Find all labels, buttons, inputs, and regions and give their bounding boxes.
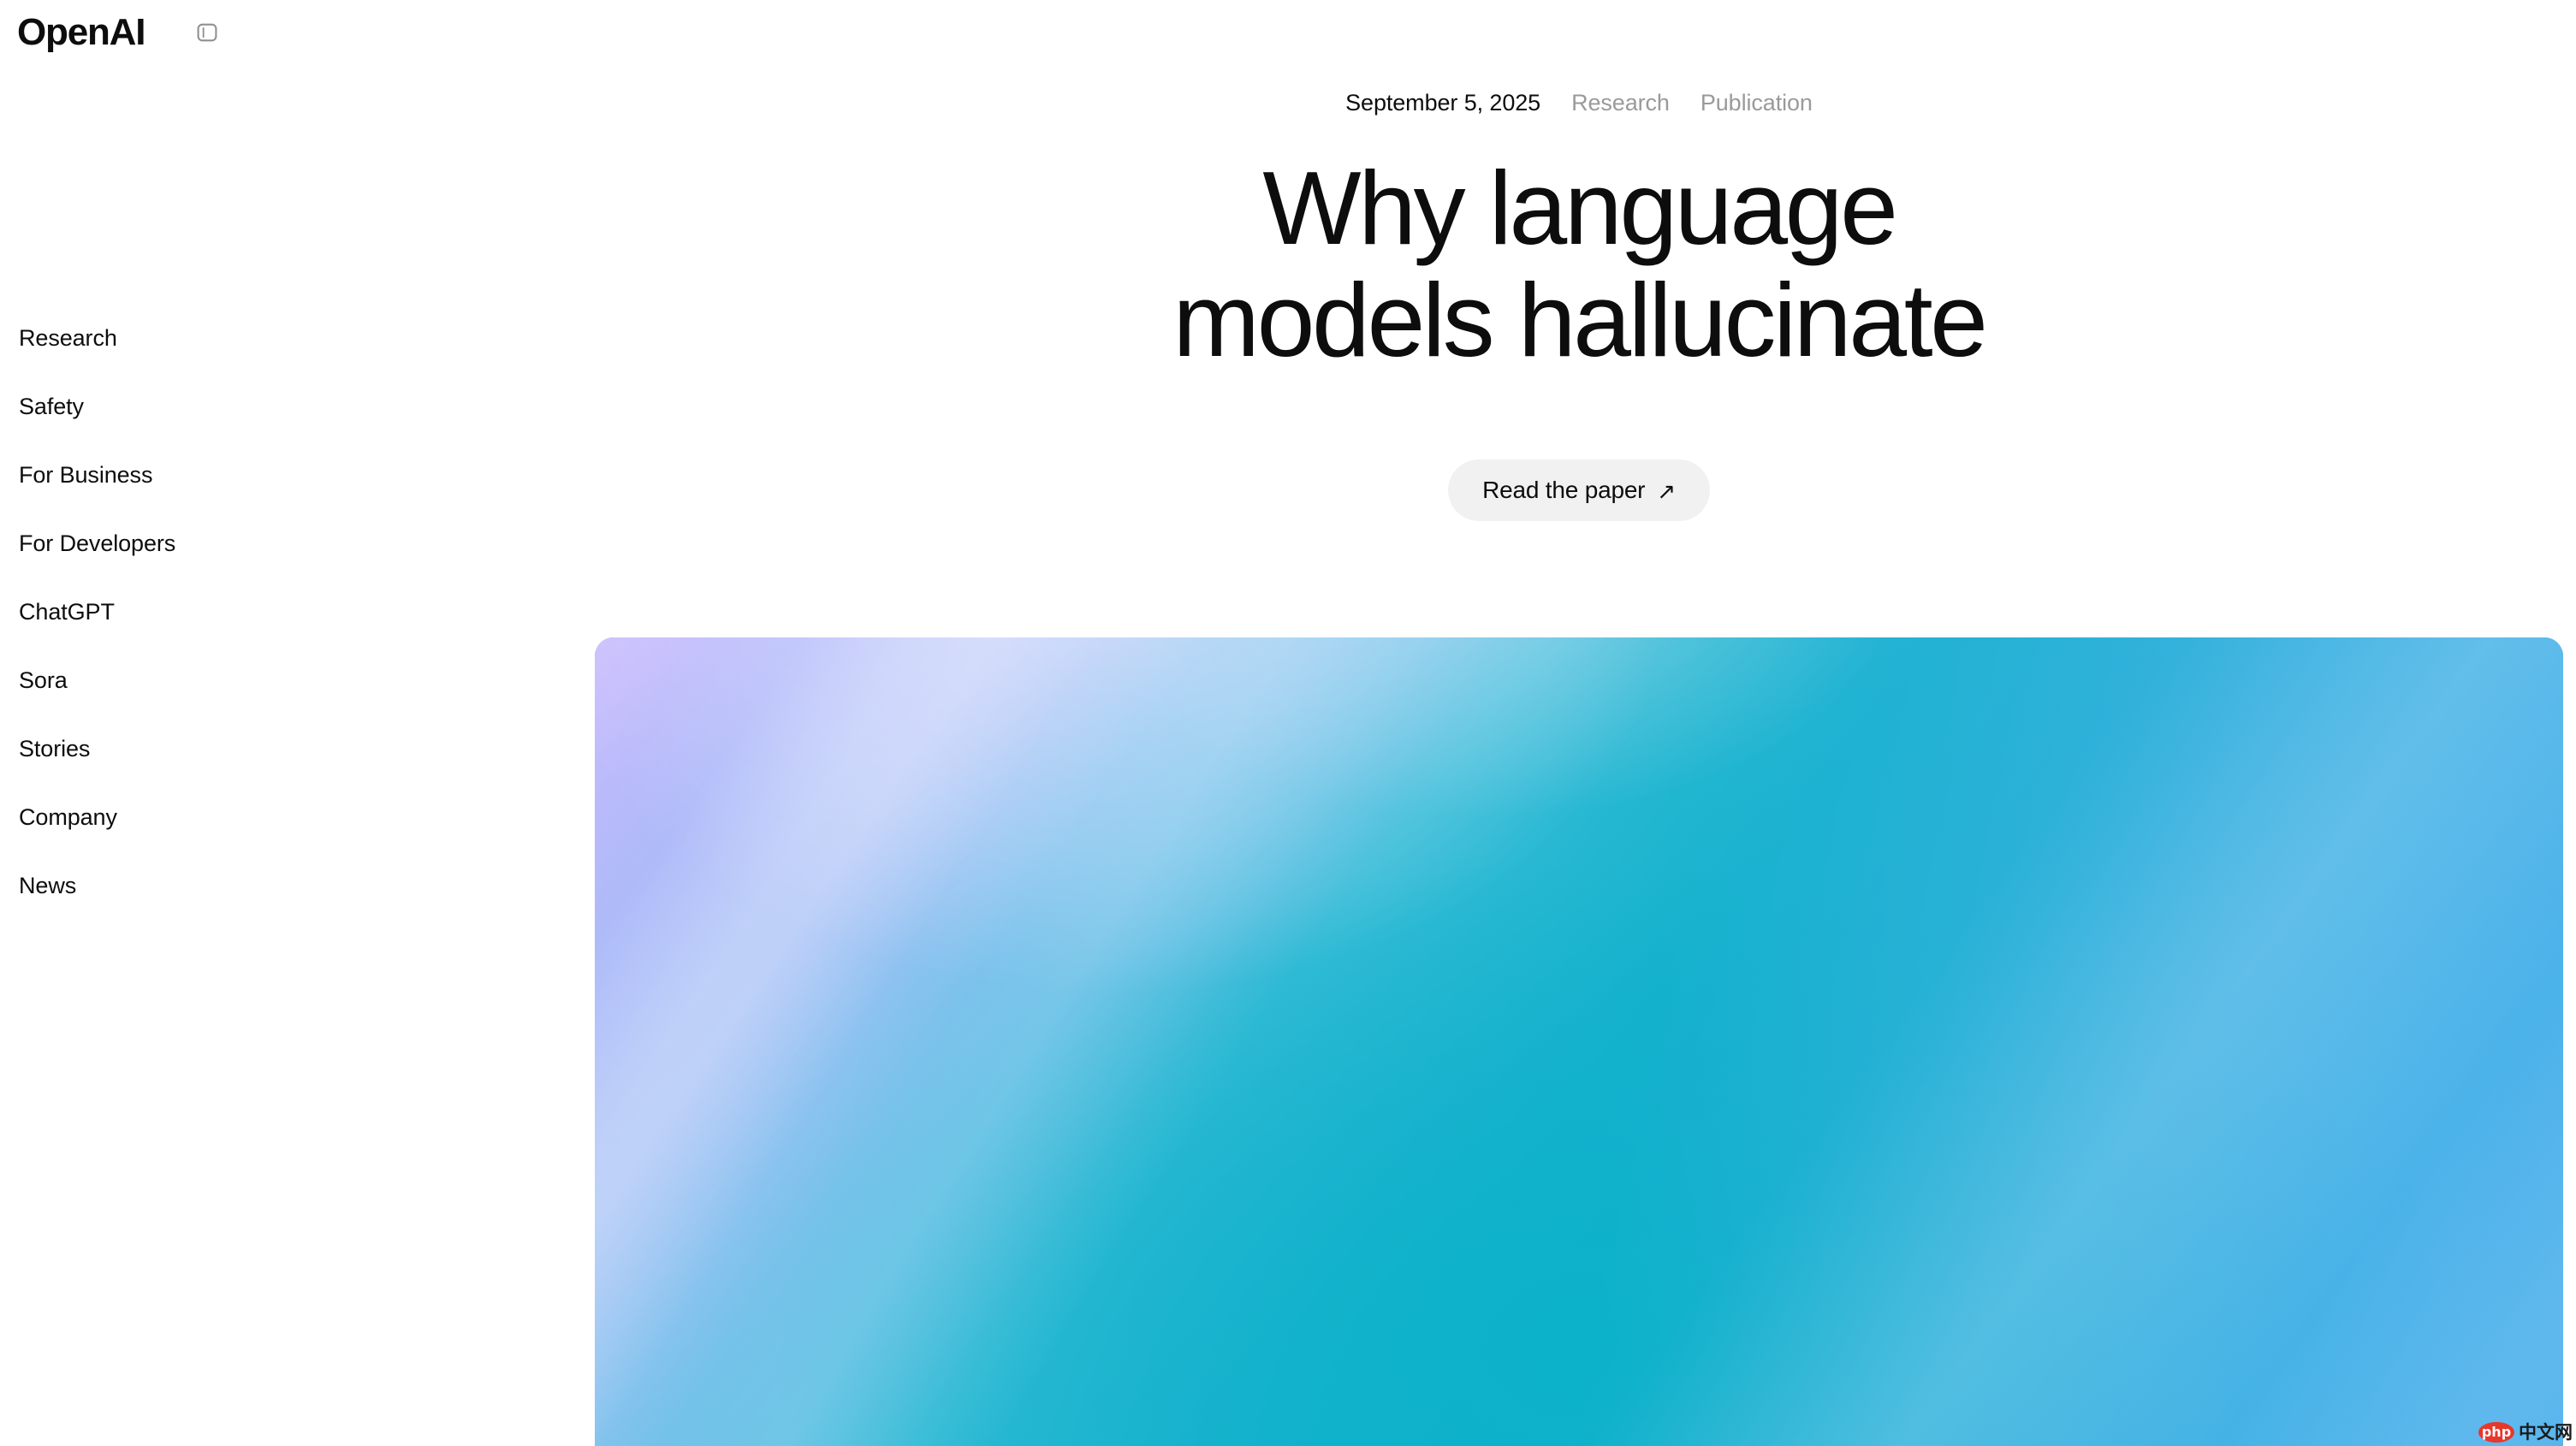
page-title-line-1: Why language bbox=[595, 152, 2563, 264]
tag-publication[interactable]: Publication bbox=[1701, 92, 1813, 115]
sidebar-item-stories[interactable]: Stories bbox=[0, 714, 565, 783]
hero-gradient-streak-d bbox=[595, 637, 2563, 1446]
external-link-arrow-icon: ↗ bbox=[1657, 480, 1676, 502]
publish-date: September 5, 2025 bbox=[1345, 92, 1540, 115]
page-root: OpenAI Research Safety For Business For … bbox=[0, 0, 2576, 1446]
page-title: Why language models hallucinate bbox=[595, 152, 2563, 376]
sidebar-item-safety[interactable]: Safety bbox=[0, 372, 565, 441]
sidebar-item-news[interactable]: News bbox=[0, 851, 565, 920]
watermark-text: 中文网 bbox=[2519, 1424, 2573, 1442]
header: OpenAI bbox=[0, 0, 599, 65]
sidebar-item-company[interactable]: Company bbox=[0, 783, 565, 851]
watermark: php 中文网 bbox=[2478, 1422, 2573, 1443]
page-title-line-2: models hallucinate bbox=[595, 264, 2563, 376]
hero-gradient-image bbox=[595, 637, 2563, 1446]
article-meta: September 5, 2025 Research Publication bbox=[595, 92, 2563, 115]
sidebar-toggle-button[interactable] bbox=[193, 18, 222, 47]
tag-research[interactable]: Research bbox=[1571, 92, 1670, 115]
cta-container: Read the paper ↗ bbox=[595, 459, 2563, 521]
read-the-paper-button[interactable]: Read the paper ↗ bbox=[1448, 459, 1710, 521]
watermark-badge: php bbox=[2478, 1422, 2514, 1443]
sidebar-item-chatgpt[interactable]: ChatGPT bbox=[0, 578, 565, 646]
sidebar-item-for-developers[interactable]: For Developers bbox=[0, 509, 565, 578]
sidebar-item-for-business[interactable]: For Business bbox=[0, 441, 565, 509]
sidebar-item-research[interactable]: Research bbox=[0, 304, 565, 372]
read-the-paper-label: Read the paper bbox=[1482, 477, 1645, 504]
sidebar-panel-icon bbox=[196, 21, 218, 44]
sidebar-item-sora[interactable]: Sora bbox=[0, 646, 565, 714]
openai-logo[interactable]: OpenAI bbox=[17, 14, 145, 51]
sidebar-nav: Research Safety For Business For Develop… bbox=[0, 304, 565, 920]
